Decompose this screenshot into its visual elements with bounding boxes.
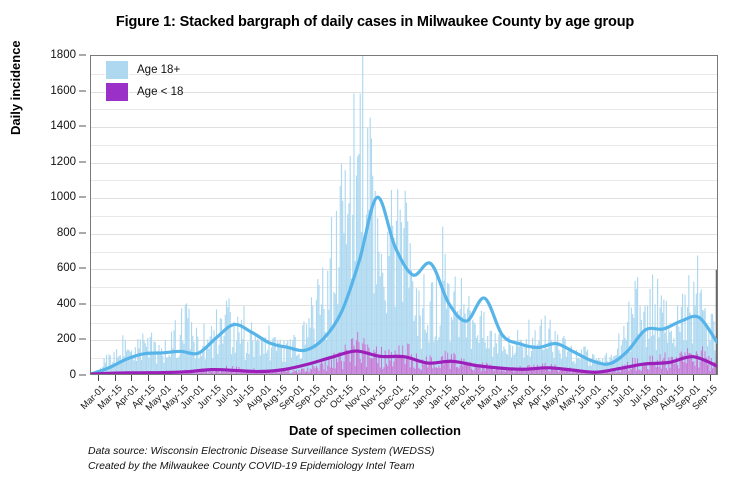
- bar: [363, 338, 364, 374]
- bar: [667, 343, 668, 371]
- bar: [157, 352, 158, 372]
- bar: [645, 365, 646, 374]
- bar: [370, 118, 371, 359]
- y-axis: 020040060080010001200140016001800: [0, 55, 90, 375]
- bar: [655, 304, 656, 362]
- bar: [495, 333, 496, 370]
- bar: [310, 369, 311, 374]
- bar: [135, 347, 136, 373]
- bar: [416, 353, 417, 374]
- bar: [242, 339, 243, 370]
- bar: [656, 367, 657, 374]
- bar: [481, 311, 482, 372]
- bar: [558, 372, 559, 374]
- bar: [356, 340, 357, 374]
- y-tick-mark: [79, 126, 86, 127]
- bar: [638, 370, 639, 374]
- bar: [341, 361, 342, 374]
- bar: [130, 352, 131, 374]
- bar: [160, 352, 161, 373]
- bar: [677, 365, 678, 374]
- bar: [491, 331, 492, 367]
- bar: [323, 369, 324, 374]
- bar: [397, 357, 398, 374]
- legend-item-child[interactable]: Age < 18: [105, 82, 183, 102]
- bar: [643, 312, 644, 364]
- bar: [586, 351, 587, 372]
- bar: [418, 368, 419, 374]
- bar: [303, 369, 304, 374]
- bar: [235, 353, 236, 372]
- bar: [546, 369, 547, 374]
- bar: [472, 320, 473, 370]
- y-tick-mark: [79, 268, 86, 269]
- bar: [467, 309, 468, 363]
- bar: [261, 338, 262, 371]
- bar: [598, 358, 599, 372]
- bar: [313, 366, 314, 374]
- bar: [640, 370, 641, 374]
- bar: [205, 372, 206, 374]
- bar: [440, 368, 441, 374]
- bar: [498, 334, 499, 367]
- bar: [642, 332, 643, 364]
- bar: [175, 320, 176, 371]
- bar: [703, 311, 704, 360]
- bar: [246, 353, 247, 370]
- bar: [326, 340, 327, 371]
- bar: [503, 347, 504, 368]
- y-tick-mark: [79, 161, 86, 162]
- bar: [110, 356, 111, 373]
- bar: [606, 353, 607, 371]
- bar: [517, 371, 518, 374]
- bar: [713, 321, 714, 362]
- bar: [423, 274, 424, 364]
- bar: [225, 315, 226, 372]
- bar: [276, 351, 277, 370]
- bar: [108, 354, 109, 372]
- bar: [450, 369, 451, 374]
- bar: [695, 366, 696, 374]
- bar: [317, 368, 318, 374]
- bar: [186, 303, 187, 370]
- bar: [472, 370, 473, 374]
- bar: [398, 345, 399, 374]
- bar: [473, 322, 474, 370]
- x-tick-mark: [363, 375, 364, 381]
- bar: [321, 360, 322, 374]
- bar: [556, 343, 557, 368]
- x-tick-mark: [412, 375, 413, 381]
- bar: [541, 319, 542, 366]
- bar: [510, 345, 511, 370]
- bar: [382, 273, 383, 369]
- bar: [651, 336, 652, 364]
- bar: [158, 345, 159, 372]
- bar: [343, 233, 344, 362]
- bar: [446, 309, 447, 361]
- bar: [337, 362, 338, 374]
- bar: [421, 370, 422, 374]
- bar: [401, 356, 402, 374]
- bar: [375, 191, 376, 352]
- bar: [426, 333, 427, 357]
- bar: [347, 214, 348, 353]
- bar: [218, 371, 219, 374]
- bar: [322, 267, 323, 363]
- bar: [368, 210, 369, 348]
- bar: [367, 128, 368, 344]
- bar: [700, 361, 701, 374]
- bar: [126, 351, 127, 374]
- bar: [403, 228, 404, 357]
- bar: [300, 372, 301, 374]
- bar: [385, 350, 386, 374]
- bar: [462, 317, 463, 366]
- bar: [441, 285, 442, 357]
- bar: [127, 349, 128, 373]
- bar: [332, 368, 333, 374]
- x-tick-mark: [98, 375, 99, 381]
- bar: [631, 369, 632, 374]
- bar: [258, 341, 259, 370]
- bar: [312, 365, 313, 374]
- bar: [350, 156, 351, 362]
- bar: [441, 357, 442, 374]
- bar: [425, 364, 426, 374]
- bar: [260, 355, 261, 370]
- bar: [661, 295, 662, 368]
- bar: [287, 370, 288, 374]
- bar: [443, 365, 444, 374]
- bar: [301, 369, 302, 374]
- bar: [662, 313, 663, 360]
- bar: [548, 371, 549, 374]
- bar: [676, 323, 677, 357]
- bar: [297, 355, 298, 373]
- bar: [256, 341, 257, 371]
- bar: [288, 370, 289, 374]
- x-tick-mark: [396, 375, 397, 381]
- bar: [248, 354, 249, 372]
- bar: [493, 371, 494, 374]
- bar: [552, 352, 553, 367]
- bar: [398, 255, 399, 346]
- bar: [612, 372, 613, 374]
- bar: [442, 356, 443, 374]
- bar: [356, 176, 357, 341]
- bar: [402, 302, 403, 346]
- bar: [452, 320, 453, 360]
- bar: [657, 279, 658, 360]
- bar: [257, 373, 258, 374]
- bar: [145, 343, 146, 373]
- bar: [293, 335, 294, 370]
- bar: [291, 358, 292, 374]
- bar: [215, 341, 216, 369]
- bar: [532, 338, 533, 369]
- x-tick-mark: [478, 375, 479, 381]
- bar: [162, 356, 163, 373]
- bar: [131, 351, 132, 373]
- bar: [526, 339, 527, 368]
- bar: [678, 326, 679, 368]
- bar: [411, 270, 412, 354]
- legend-label-adult: Age 18+: [137, 64, 180, 76]
- legend-item-adult[interactable]: Age 18+: [105, 60, 183, 80]
- x-tick-mark: [148, 375, 149, 381]
- bar: [362, 56, 363, 343]
- bar: [463, 304, 464, 359]
- bar: [572, 372, 573, 374]
- bar: [360, 94, 361, 359]
- bar: [456, 315, 457, 367]
- bar: [545, 315, 546, 362]
- bar: [253, 357, 254, 368]
- x-tick-mark: [164, 375, 165, 381]
- bar: [405, 191, 406, 365]
- bar: [697, 255, 698, 353]
- bar: [592, 354, 593, 373]
- bar: [387, 366, 388, 374]
- bar: [547, 349, 548, 368]
- bar: [266, 373, 267, 374]
- bar: [410, 243, 411, 367]
- bar: [620, 372, 621, 374]
- bar: [482, 362, 483, 374]
- bar: [692, 362, 693, 374]
- bar: [221, 319, 222, 371]
- bar: [378, 252, 379, 354]
- bar: [686, 340, 687, 363]
- bar: [262, 337, 263, 373]
- bar: [421, 349, 422, 370]
- bar: [480, 316, 481, 364]
- bar: [413, 368, 414, 374]
- bar: [291, 373, 292, 374]
- x-tick-mark: [578, 375, 579, 381]
- bar: [327, 365, 328, 374]
- bar: [701, 350, 702, 374]
- bar: [268, 325, 269, 370]
- bar: [326, 371, 327, 374]
- bar: [407, 221, 408, 343]
- bar: [286, 372, 287, 374]
- bar: [410, 367, 411, 374]
- x-axis-title: Date of specimen collection: [0, 423, 750, 438]
- bar: [617, 371, 618, 374]
- bar: [213, 330, 214, 373]
- bar: [582, 359, 583, 370]
- bar: [675, 363, 676, 374]
- bar: [350, 362, 351, 374]
- bar: [563, 336, 564, 368]
- bar: [412, 281, 413, 360]
- bar: [373, 293, 374, 349]
- bar: [395, 350, 396, 374]
- bar: [337, 304, 338, 362]
- bar: [566, 371, 567, 374]
- y-tick-label: 600: [57, 262, 76, 274]
- bar: [365, 344, 366, 374]
- bar: [628, 302, 629, 371]
- bar: [457, 311, 458, 367]
- bar: [458, 368, 459, 374]
- bar: [227, 307, 228, 372]
- bar: [562, 338, 563, 370]
- bar: [388, 256, 389, 350]
- bar: [451, 354, 452, 374]
- bar: [213, 373, 214, 374]
- bar: [393, 361, 394, 374]
- bar: [217, 354, 218, 370]
- bar: [646, 364, 647, 374]
- bar: [308, 372, 309, 374]
- bar: [432, 368, 433, 374]
- x-tick-mark: [379, 375, 380, 381]
- bar: [227, 372, 228, 374]
- bar: [342, 201, 343, 369]
- bar: [665, 333, 666, 353]
- bar: [331, 359, 332, 374]
- bar: [280, 372, 281, 374]
- bar: [687, 348, 688, 374]
- bar: [667, 370, 668, 374]
- bar: [296, 370, 297, 374]
- bar: [263, 354, 264, 372]
- bar: [322, 363, 323, 374]
- bar: [591, 366, 592, 371]
- bar: [342, 369, 343, 374]
- bar: [473, 370, 474, 374]
- bar: [623, 326, 624, 368]
- y-tick-label: 1800: [50, 49, 76, 61]
- bar: [512, 346, 513, 367]
- bar: [303, 321, 304, 368]
- bar: [451, 317, 452, 354]
- bar: [195, 373, 196, 374]
- bar: [417, 336, 418, 360]
- bar: [240, 344, 241, 369]
- bar: [546, 348, 547, 369]
- bar: [702, 310, 703, 346]
- bar: [531, 351, 532, 367]
- bar: [341, 164, 342, 361]
- bar: [312, 306, 313, 365]
- bar: [315, 368, 316, 374]
- bar: [315, 347, 316, 369]
- bar: [318, 285, 319, 371]
- bar: [347, 354, 348, 374]
- bar: [168, 355, 169, 372]
- bar: [513, 372, 514, 374]
- y-tick-label: 1600: [50, 85, 76, 97]
- bar: [277, 373, 278, 374]
- bar: [648, 370, 649, 374]
- bar: [306, 371, 307, 374]
- bar: [181, 308, 182, 370]
- bar: [530, 357, 531, 367]
- bar: [468, 296, 469, 365]
- bar: [448, 284, 449, 359]
- bar: [232, 347, 233, 366]
- bar: [396, 221, 397, 354]
- bar: [508, 370, 509, 374]
- bar: [255, 336, 256, 371]
- bar: [143, 340, 144, 373]
- x-tick-mark: [545, 375, 546, 381]
- bar: [220, 373, 221, 374]
- bar: [206, 346, 207, 370]
- x-tick-mark: [280, 375, 281, 381]
- bar: [295, 371, 296, 374]
- bar: [433, 342, 434, 364]
- y-tick-mark: [79, 303, 86, 304]
- bar: [196, 373, 197, 374]
- bar: [320, 364, 321, 374]
- bar: [483, 312, 484, 365]
- y-tick-label: 1000: [50, 191, 76, 203]
- bar: [666, 301, 667, 368]
- bar: [635, 281, 636, 358]
- bar: [380, 276, 381, 367]
- y-tick-mark: [79, 232, 86, 233]
- bar: [670, 368, 671, 374]
- bar: [557, 335, 558, 371]
- bar: [666, 368, 667, 374]
- bar: [525, 345, 526, 370]
- bar: [502, 371, 503, 374]
- bar: [325, 361, 326, 374]
- bar: [226, 301, 227, 366]
- bar: [125, 340, 126, 373]
- bar: [362, 343, 363, 374]
- bar: [517, 330, 518, 371]
- bar: [311, 369, 312, 374]
- bar: [686, 363, 687, 374]
- bar: [252, 341, 253, 371]
- bar: [345, 345, 346, 374]
- x-tick-mark: [561, 375, 562, 381]
- bar: [420, 369, 421, 374]
- bar: [543, 350, 544, 367]
- bar: [290, 373, 291, 374]
- bar: [180, 335, 181, 372]
- bar: [668, 329, 669, 357]
- bar: [571, 373, 572, 374]
- bar: [497, 353, 498, 366]
- bar: [495, 370, 496, 374]
- bar: [698, 319, 699, 368]
- y-tick-label: 0: [70, 369, 76, 381]
- bar: [523, 358, 524, 369]
- footer-credit: Created by the Milwaukee County COVID-19…: [88, 459, 435, 474]
- bar: [436, 367, 437, 374]
- bar: [507, 355, 508, 369]
- bar: [482, 338, 483, 362]
- bar: [233, 372, 234, 374]
- bar: [555, 331, 556, 364]
- bar: [671, 331, 672, 357]
- bar: [632, 314, 633, 358]
- bar: [371, 358, 372, 374]
- x-tick-mark: [677, 375, 678, 381]
- bar: [463, 359, 464, 374]
- bar: [200, 372, 201, 374]
- bar: [688, 275, 689, 353]
- bar: [330, 367, 331, 374]
